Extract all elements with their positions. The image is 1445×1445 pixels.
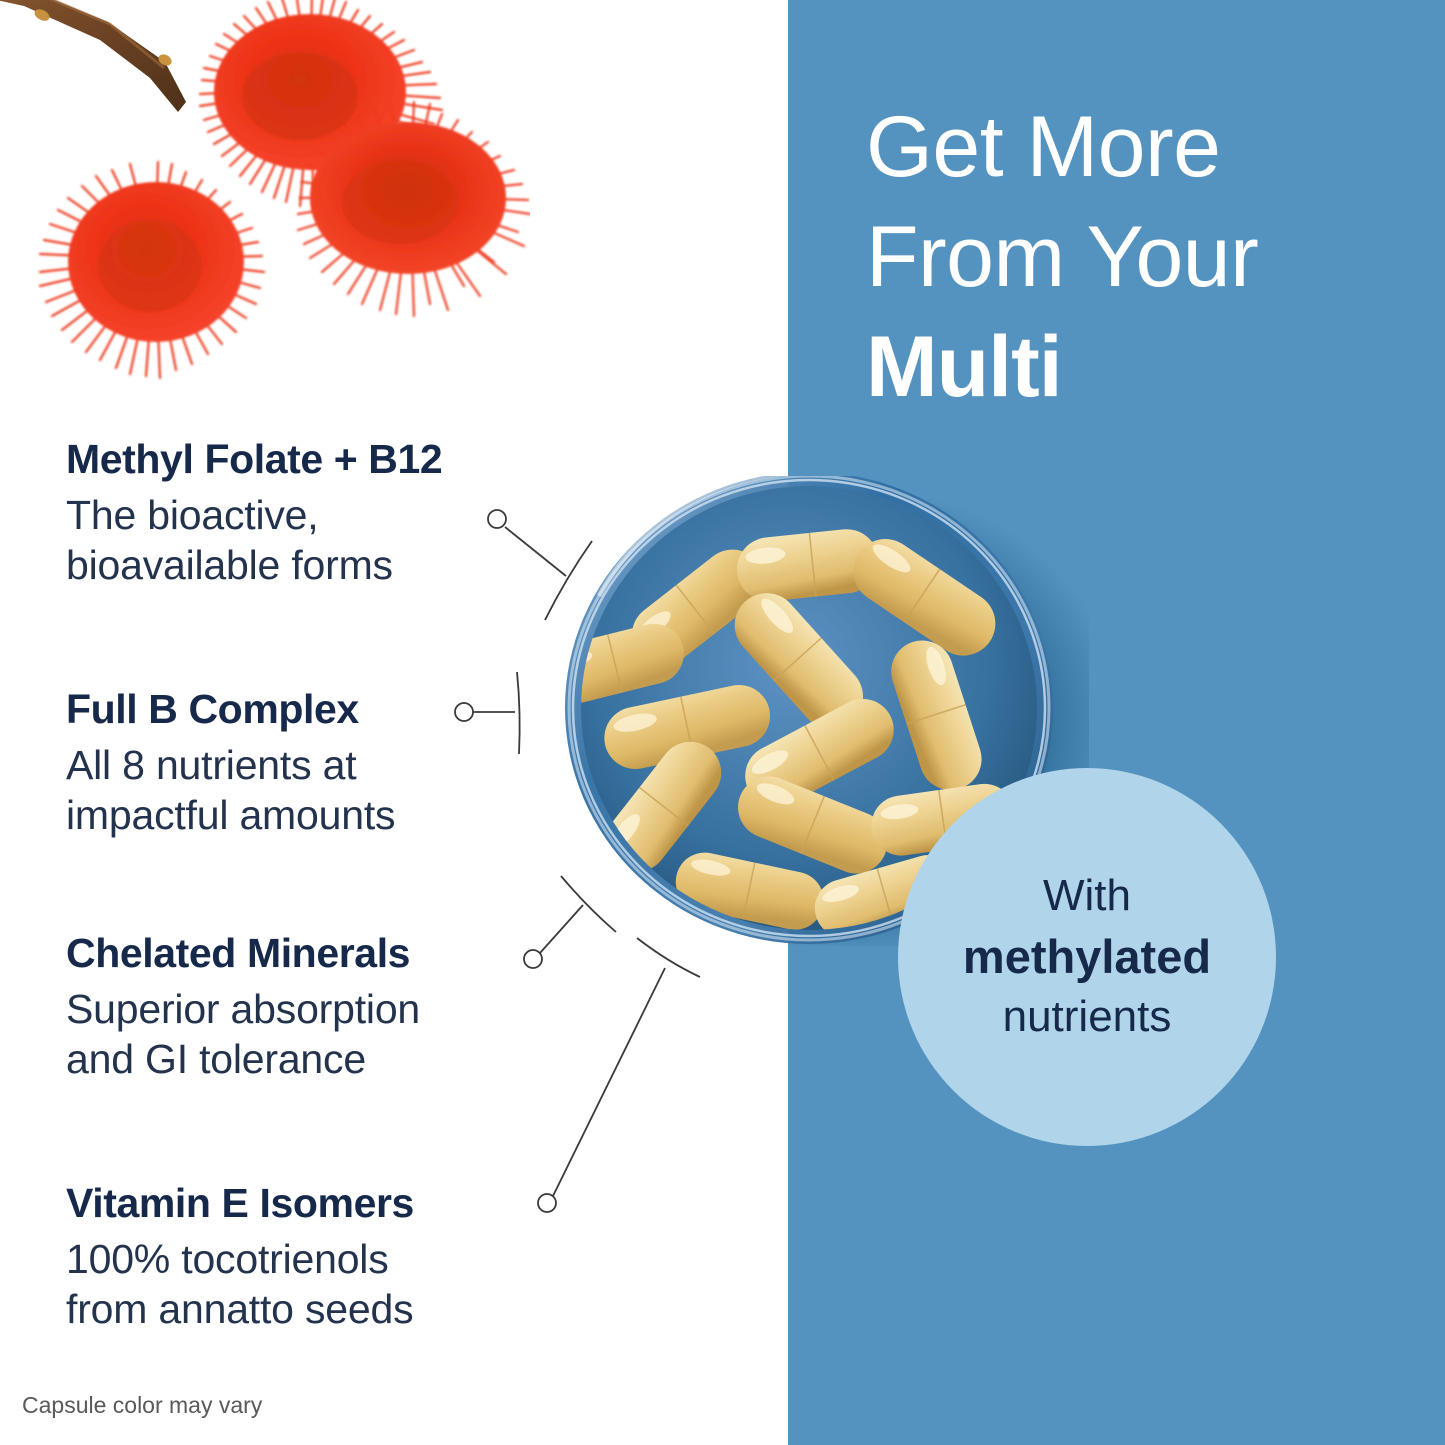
feature-desc-line-1: The bioactive,	[66, 492, 318, 538]
methylated-nutrients-badge: With methylated nutrients	[898, 768, 1276, 1146]
capsule-color-disclaimer: Capsule color may vary	[22, 1392, 262, 1419]
feature-methyl-folate-b12: Methyl Folate + B12 The bioactive, bioav…	[66, 436, 566, 590]
feature-description: Superior absorption and GI tolerance	[66, 984, 566, 1084]
badge-line-2: methylated	[963, 926, 1211, 989]
feature-title: Full B Complex	[66, 686, 566, 734]
branch-shape	[0, 0, 186, 112]
feature-desc-line-2: bioavailable forms	[66, 542, 393, 588]
feature-description: All 8 nutrients at impactful amounts	[66, 740, 566, 840]
annatto-seed-pods-image	[0, 0, 530, 384]
pod-lower-left	[40, 162, 264, 378]
feature-desc-line-1: 100% tocotrienols	[66, 1236, 389, 1282]
headline-line-3: Multi	[866, 312, 1426, 422]
feature-desc-line-2: and GI tolerance	[66, 1036, 366, 1082]
feature-desc-line-1: All 8 nutrients at	[66, 742, 356, 788]
feature-title: Chelated Minerals	[66, 930, 566, 978]
feature-desc-line-1: Superior absorption	[66, 986, 420, 1032]
headline-line-2: From Your	[866, 202, 1426, 312]
feature-title: Vitamin E Isomers	[66, 1180, 566, 1228]
headline-line-1: Get More	[866, 92, 1426, 202]
feature-chelated-minerals: Chelated Minerals Superior absorption an…	[66, 930, 566, 1084]
feature-vitamin-e-isomers: Vitamin E Isomers 100% tocotrienols from…	[66, 1180, 566, 1334]
infographic-root: Get More From Your Multi With methylated…	[0, 0, 1445, 1445]
headline: Get More From Your Multi	[866, 92, 1426, 422]
feature-description: The bioactive, bioavailable forms	[66, 490, 566, 590]
feature-title: Methyl Folate + B12	[66, 436, 566, 484]
feature-full-b-complex: Full B Complex All 8 nutrients at impact…	[66, 686, 566, 840]
badge-line-1: With	[1043, 867, 1131, 926]
feature-desc-line-2: impactful amounts	[66, 792, 395, 838]
feature-description: 100% tocotrienols from annatto seeds	[66, 1234, 566, 1334]
badge-line-3: nutrients	[1003, 988, 1172, 1047]
feature-desc-line-2: from annatto seeds	[66, 1286, 413, 1332]
